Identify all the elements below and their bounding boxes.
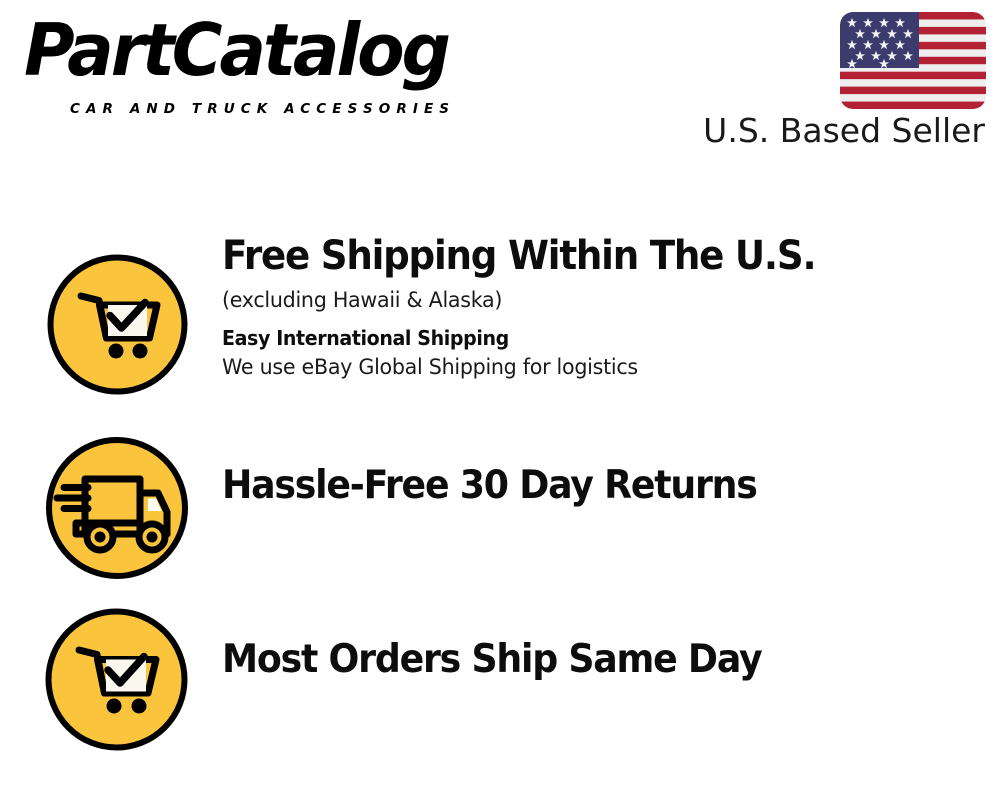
- delivery-truck-icon: [43, 434, 191, 582]
- benefit-text-block: Free Shipping Within The U.S. (excluding…: [222, 232, 990, 382]
- benefit-text-block: Hassle-Free 30 Day Returns: [222, 462, 990, 510]
- benefit-text-block: Most Orders Ship Same Day: [222, 636, 990, 684]
- benefit-title: Free Shipping Within The U.S.: [222, 232, 936, 280]
- brand-logo[interactable]: PartCatalog CAR AND TRUCK ACCESSORIES: [24, 20, 494, 115]
- us-flag-icon: [840, 12, 986, 109]
- benefit-row: Most Orders Ship Same Day: [0, 596, 1000, 756]
- benefit-title: Hassle-Free 30 Day Returns: [222, 462, 936, 510]
- us-based-seller-label: U.S. Based Seller: [703, 114, 985, 147]
- benefit-subtitle: (excluding Hawaii & Alaska): [222, 286, 959, 316]
- brand-wordmark: PartCatalog: [24, 14, 448, 86]
- shopping-cart-check-icon: [45, 252, 190, 397]
- benefit-subtitle-secondary: We use eBay Global Shipping for logistic…: [222, 353, 959, 382]
- page-header: PartCatalog CAR AND TRUCK ACCESSORIES: [0, 0, 1000, 170]
- shopping-cart-check-icon: [43, 606, 190, 753]
- benefit-subtitle-strong: Easy International Shipping: [222, 324, 952, 352]
- brand-tagline: CAR AND TRUCK ACCESSORIES: [70, 103, 455, 117]
- benefit-title: Most Orders Ship Same Day: [222, 636, 936, 684]
- benefit-row: Hassle-Free 30 Day Returns: [0, 424, 1000, 584]
- benefit-row: Free Shipping Within The U.S. (excluding…: [0, 232, 1000, 412]
